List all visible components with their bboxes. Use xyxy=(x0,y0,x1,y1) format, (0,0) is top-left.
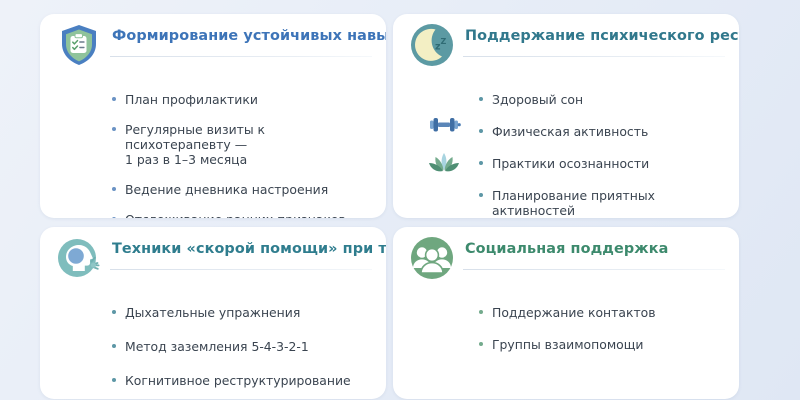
card-item-list: Здоровый сон Физическая активность Практ… xyxy=(393,70,739,218)
card-emergency-techniques: Техники «скорой помощи» при тревоге Дыха… xyxy=(40,227,386,399)
card-title: Формирование устойчивых навыков xyxy=(112,28,376,44)
list-item-label: Группы взаимопомощи xyxy=(492,337,643,352)
bullet-icon xyxy=(112,344,116,348)
list-item-label: Физическая активность xyxy=(492,124,648,139)
bullet-icon xyxy=(112,378,116,382)
list-item: Здоровый сон xyxy=(479,92,725,107)
list-item: Ведение дневника настроения xyxy=(112,182,372,197)
people-group-icon xyxy=(409,235,455,281)
list-item: Поддержание контактов xyxy=(479,305,725,320)
list-item-label: Практики осознанности xyxy=(492,156,649,171)
list-item-label: Дыхательные упражнения xyxy=(125,305,300,320)
card-title: Техники «скорой помощи» при тревоге xyxy=(112,241,376,257)
card-item-list: Поддержание контактов Группы взаимопомощ… xyxy=(393,283,739,352)
card-habits: Формирование устойчивых навыков План про… xyxy=(40,14,386,218)
card-item-list: Дыхательные упражнения Метод заземления … xyxy=(40,283,386,388)
card-header: Формирование устойчивых навыков xyxy=(40,14,386,70)
list-item-label: Когнитивное реструктурирование xyxy=(125,373,351,388)
bullet-icon xyxy=(479,161,483,165)
list-item-label: План профилактики xyxy=(125,92,258,107)
shield-checklist-icon xyxy=(56,22,102,68)
list-item: Практики осознанности xyxy=(479,156,725,171)
bullet-icon xyxy=(112,187,116,191)
bullet-icon xyxy=(112,97,116,101)
list-item-label: Регулярные визиты к психотерапевту — xyxy=(125,122,265,152)
card-title: Социальная поддержка xyxy=(465,241,729,257)
svg-text:Z: Z xyxy=(441,37,447,46)
card-social-support: Социальная поддержка Поддержание контакт… xyxy=(393,227,739,399)
bullet-icon xyxy=(479,97,483,101)
breathing-head-icon xyxy=(56,235,102,281)
bullet-icon xyxy=(112,310,116,314)
list-item: Когнитивное реструктурирование xyxy=(112,373,372,388)
title-divider xyxy=(463,56,725,57)
bullet-icon xyxy=(112,217,116,218)
list-item-label: Метод заземления 5-4-3-2-1 xyxy=(125,339,309,354)
bullet-icon xyxy=(479,129,483,133)
card-title: Поддержание психического ресурса xyxy=(465,28,729,44)
list-item-label: Планирование приятных активностей xyxy=(492,188,655,218)
list-item: Дыхательные упражнения xyxy=(112,305,372,320)
card-header: Техники «скорой помощи» при тревоге xyxy=(40,227,386,283)
list-item-label: Поддержание контактов xyxy=(492,305,656,320)
bullet-icon xyxy=(479,310,483,314)
bullet-icon xyxy=(479,193,483,197)
title-divider xyxy=(463,269,725,270)
bullet-icon xyxy=(479,342,483,346)
infographic-board: Формирование устойчивых навыков План про… xyxy=(0,0,800,400)
card-header: Социальная поддержка xyxy=(393,227,739,283)
list-item: Регулярные визиты к психотерапевту — 1 р… xyxy=(112,122,372,167)
list-item-label: Ведение дневника настроения xyxy=(125,182,328,197)
card-header: z Z Поддержание психического ресурса xyxy=(393,14,739,70)
list-item: Планирование приятных активностей xyxy=(479,188,725,218)
list-item-label-line2: 1 раз в 1–3 месяца xyxy=(125,152,372,167)
list-item: Физическая активность xyxy=(479,124,725,139)
card-mental-resource: z Z Поддержание психического ресурса xyxy=(393,14,739,218)
cards-grid: Формирование устойчивых навыков План про… xyxy=(40,14,760,399)
list-item: Метод заземления 5-4-3-2-1 xyxy=(112,339,372,354)
bullet-icon xyxy=(112,127,116,131)
list-item: План профилактики xyxy=(112,92,372,107)
moon-sleep-icon: z Z xyxy=(409,22,455,68)
list-item: Группы взаимопомощи xyxy=(479,337,725,352)
list-item-label: Здоровый сон xyxy=(492,92,583,107)
title-divider xyxy=(110,56,372,57)
card-item-list: План профилактики Регулярные визиты к пс… xyxy=(40,70,386,218)
list-item: Отслеживание ранних признаков ухудшения xyxy=(112,212,372,218)
title-divider xyxy=(110,269,372,270)
list-item-label: Отслеживание ранних признаков ухудшения xyxy=(125,212,346,218)
